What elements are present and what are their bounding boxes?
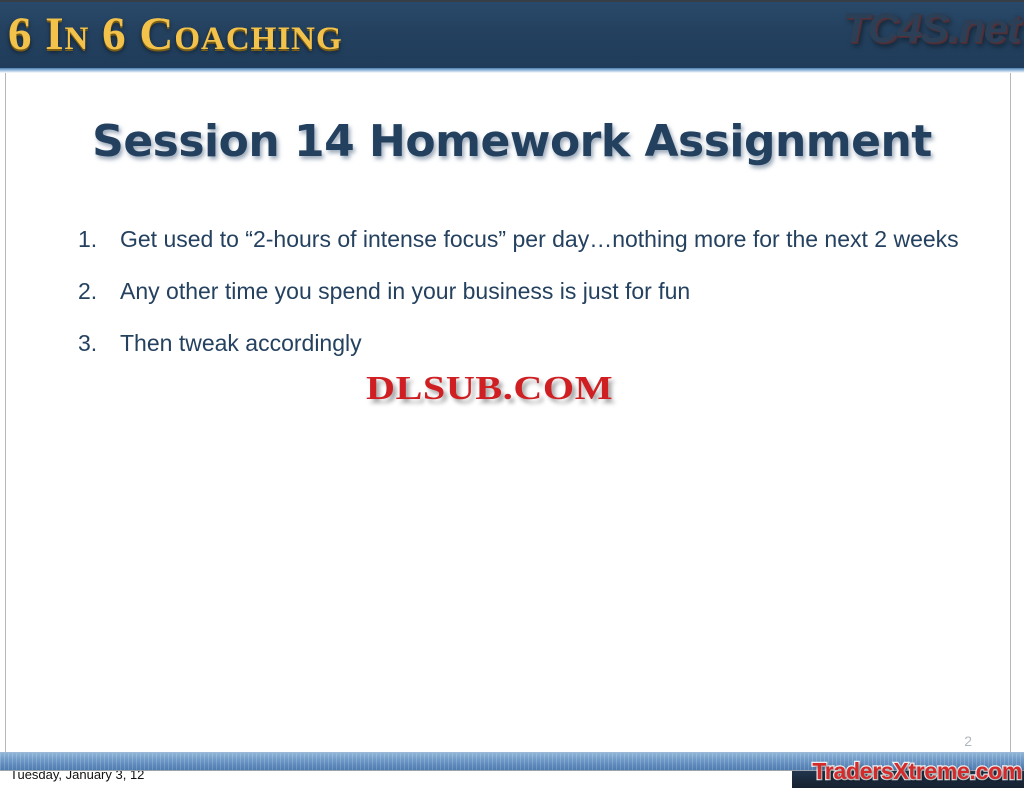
brand-title: 6 In 6 Coaching bbox=[8, 6, 343, 62]
list-item: 1. Get used to “2-hours of intense focus… bbox=[78, 222, 983, 256]
list-item-number: 2. bbox=[78, 274, 120, 308]
tradersxtreme-logo: TradersXtreme.com bbox=[812, 756, 1022, 786]
presentation-slide: 6 In 6 Coaching TC4S.net Session 14 Home… bbox=[0, 0, 1024, 788]
header-accent-line bbox=[0, 68, 1024, 73]
list-item-text: Any other time you spend in your busines… bbox=[120, 274, 983, 308]
list-item: 2. Any other time you spend in your busi… bbox=[78, 274, 983, 308]
homework-list: 1. Get used to “2-hours of intense focus… bbox=[78, 222, 983, 378]
dlsub-watermark: DLSUB.COM bbox=[366, 369, 613, 409]
slide-title: Session 14 Homework Assignment bbox=[0, 114, 1024, 170]
slide-left-border bbox=[5, 73, 6, 752]
page-number: 2 bbox=[964, 732, 972, 750]
slide-header-band: 6 In 6 Coaching TC4S.net bbox=[0, 0, 1024, 68]
slide-right-border bbox=[1010, 73, 1011, 752]
list-item: 3. Then tweak accordingly bbox=[78, 326, 983, 360]
list-item-text: Get used to “2-hours of intense focus” p… bbox=[120, 222, 975, 256]
list-item-text: Then tweak accordingly bbox=[120, 326, 983, 360]
list-item-number: 3. bbox=[78, 326, 120, 360]
list-item-number: 1. bbox=[78, 222, 120, 256]
tc4s-net-logo: TC4S.net bbox=[842, 2, 1020, 54]
